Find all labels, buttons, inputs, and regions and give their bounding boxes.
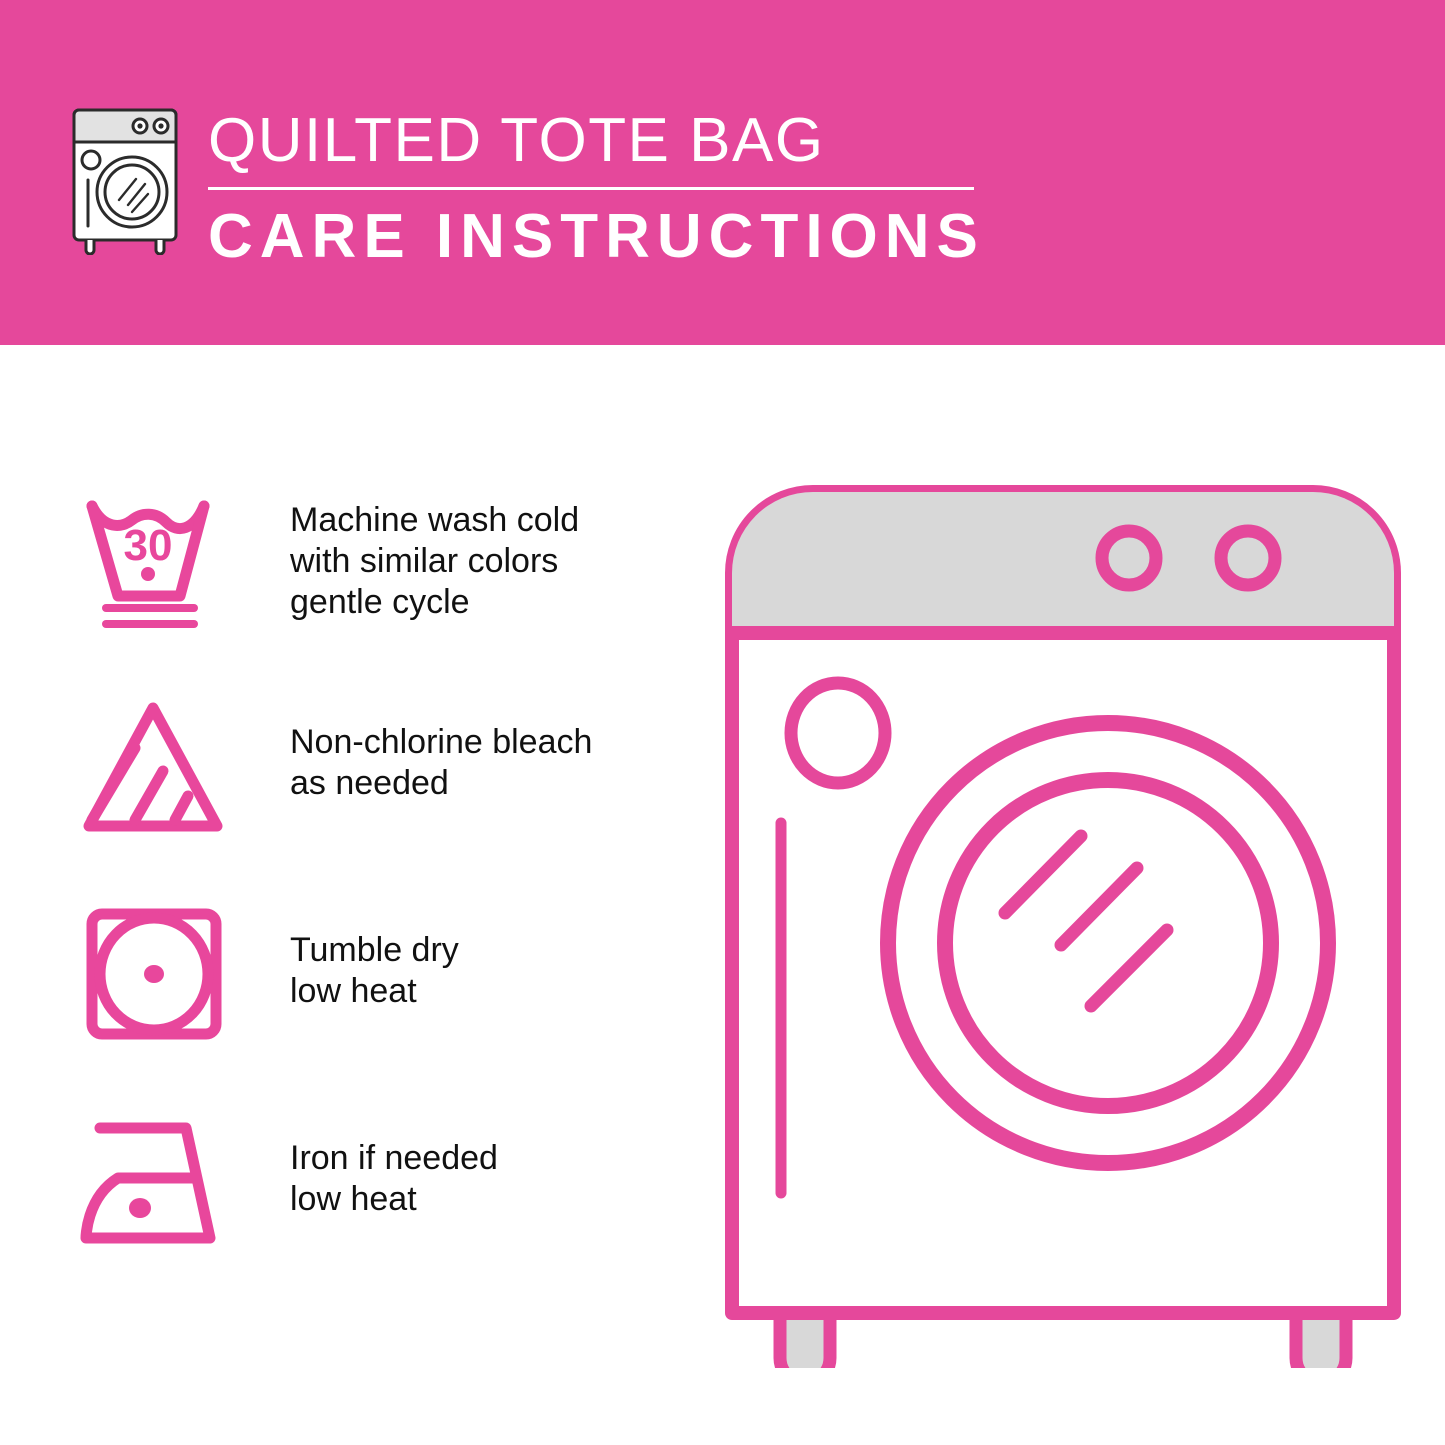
care-row-iron: Iron if needed low heat [70, 1102, 690, 1310]
care-line: gentle cycle [290, 582, 690, 623]
wash-temperature-label: 30 [124, 521, 173, 570]
care-label-bleach: Non-chlorine bleach as needed [290, 722, 690, 804]
care-line: low heat [290, 1179, 690, 1220]
header-band: QUILTED TOTE BAG CARE INSTRUCTIONS [0, 0, 1445, 345]
large-washing-machine-illustration [718, 478, 1408, 1368]
bleach-triangle-icon [70, 686, 240, 846]
care-label-iron: Iron if needed low heat [290, 1138, 690, 1220]
tumble-dry-icon [70, 894, 240, 1054]
care-line: Non-chlorine bleach [290, 722, 690, 763]
care-line: Machine wash cold [290, 500, 690, 541]
machine-leg-left [780, 1313, 830, 1368]
care-label-wash: Machine wash cold with similar colors ge… [290, 500, 690, 623]
washing-machine-icon [62, 100, 188, 255]
care-row-bleach: Non-chlorine bleach as needed [70, 686, 690, 894]
care-line: as needed [290, 763, 690, 804]
care-line: Tumble dry [290, 930, 690, 971]
care-line: low heat [290, 971, 690, 1012]
care-row-tumble-dry: Tumble dry low heat [70, 894, 690, 1102]
page-subtitle: CARE INSTRUCTIONS [208, 202, 988, 272]
machine-leg-right [1296, 1313, 1346, 1368]
wash-tub-30-icon: 30 [70, 478, 240, 638]
care-instructions-page: QUILTED TOTE BAG CARE INSTRUCTIONS 30 [0, 0, 1445, 1445]
care-label-tumble-dry: Tumble dry low heat [290, 930, 690, 1012]
care-instruction-list: 30 Machine wash cold with similar colors… [70, 478, 690, 1310]
care-line: with similar colors [290, 541, 690, 582]
care-row-wash: 30 Machine wash cold with similar colors… [70, 478, 690, 686]
iron-icon [70, 1102, 240, 1262]
care-line: Iron if needed [290, 1138, 690, 1179]
control-panel-fill [732, 492, 1394, 633]
header-divider [208, 187, 974, 190]
page-title: QUILTED TOTE BAG [208, 105, 988, 177]
header-text-block: QUILTED TOTE BAG CARE INSTRUCTIONS [208, 105, 988, 272]
